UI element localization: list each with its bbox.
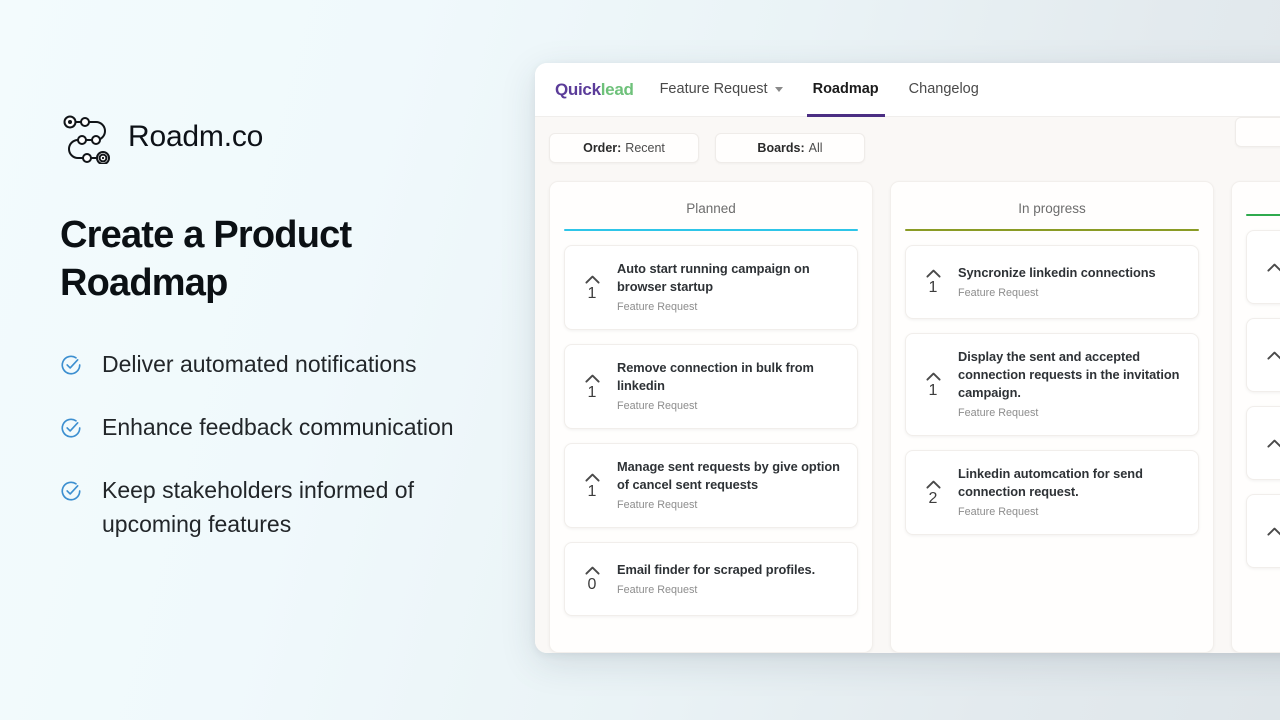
column-rule — [1246, 214, 1280, 216]
roadmap-path-icon — [60, 110, 114, 164]
boards-filter-button[interactable]: Boards:All — [715, 133, 865, 163]
roadmap-card[interactable] — [1246, 318, 1280, 392]
list-item: Keep stakeholders informed of upcoming f… — [60, 473, 500, 541]
roadmap-card[interactable] — [1246, 406, 1280, 480]
board-column-in-progress: In progress 1 Syncronize linkedin connec… — [890, 181, 1214, 653]
check-circle-icon — [60, 480, 82, 502]
roadmap-card[interactable]: 1 Remove connection in bulk from linkedi… — [564, 344, 858, 429]
card-title: Manage sent requests by give option of c… — [617, 458, 841, 494]
card-content: Syncronize linkedin connections Feature … — [958, 264, 1182, 300]
chevron-up-icon — [1267, 263, 1280, 272]
vote-control[interactable] — [1259, 525, 1280, 537]
card-title: Remove connection in bulk from linkedin — [617, 359, 841, 395]
app-topbar: Quicklead Feature Request Roadmap Change… — [535, 63, 1280, 117]
card-content: Remove connection in bulk from linkedin … — [617, 359, 841, 413]
tab-feature-request[interactable]: Feature Request — [654, 63, 789, 117]
vote-control[interactable]: 1 — [577, 372, 607, 401]
card-content: Email finder for scraped profiles. Featu… — [617, 561, 841, 597]
card-board-label: Feature Request — [617, 584, 841, 597]
quicklead-logo-part2: lead — [601, 80, 634, 99]
list-item-label: Enhance feedback communication — [102, 410, 454, 444]
vote-control[interactable]: 0 — [577, 564, 607, 593]
roadmap-card[interactable]: 1 Display the sent and accepted connecti… — [905, 333, 1199, 436]
chevron-up-icon — [1267, 439, 1280, 448]
card-content: Auto start running campaign on browser s… — [617, 260, 841, 314]
brand-name: Roadm.co — [128, 120, 263, 154]
list-item: Deliver automated notifications — [60, 347, 500, 381]
quicklead-logo[interactable]: Quicklead — [555, 80, 634, 100]
vote-count: 1 — [929, 382, 938, 399]
search-input[interactable] — [1235, 117, 1280, 147]
card-board-label: Feature Request — [617, 499, 841, 512]
tab-changelog[interactable]: Changelog — [903, 63, 985, 117]
chevron-down-icon — [775, 87, 783, 92]
app-body: Order:Recent Boards:All Planned 1 Auto s… — [535, 117, 1280, 653]
vote-count: 1 — [588, 285, 597, 302]
boards-filter-value: All — [809, 141, 823, 155]
tab-changelog-label: Changelog — [909, 80, 979, 98]
list-item-label: Keep stakeholders informed of upcoming f… — [102, 473, 500, 541]
vote-control[interactable] — [1259, 261, 1280, 273]
column-title — [1246, 182, 1280, 214]
vote-control[interactable]: 1 — [577, 471, 607, 500]
vote-control[interactable]: 1 — [918, 267, 948, 296]
chevron-up-icon — [585, 275, 600, 284]
roadmap-card[interactable]: 1 Syncronize linkedin connections Featur… — [905, 245, 1199, 319]
list-item-label: Deliver automated notifications — [102, 347, 417, 381]
chevron-up-icon — [585, 566, 600, 575]
chevron-up-icon — [926, 269, 941, 278]
order-filter-value: Recent — [625, 141, 665, 155]
chevron-up-icon — [926, 480, 941, 489]
roadmap-card[interactable] — [1246, 494, 1280, 568]
check-circle-icon — [60, 417, 82, 439]
vote-control[interactable]: 2 — [918, 478, 948, 507]
filter-toolbar: Order:Recent Boards:All — [535, 133, 1280, 163]
card-title: Email finder for scraped profiles. — [617, 561, 841, 579]
roadmap-board: Planned 1 Auto start running campaign on… — [535, 163, 1280, 653]
order-filter-button[interactable]: Order:Recent — [549, 133, 699, 163]
roadmap-card[interactable] — [1246, 230, 1280, 304]
brand: Roadm.co — [60, 105, 500, 169]
list-item: Enhance feedback communication — [60, 410, 500, 444]
card-content: Display the sent and accepted connection… — [958, 348, 1182, 420]
quicklead-logo-part1: Quick — [555, 80, 601, 99]
vote-count: 1 — [588, 483, 597, 500]
column-rule — [905, 229, 1199, 231]
card-content: Linkedin automcation for send connection… — [958, 465, 1182, 519]
roadmap-card[interactable]: 1 Auto start running campaign on browser… — [564, 245, 858, 330]
tab-roadmap[interactable]: Roadmap — [807, 63, 885, 117]
chevron-up-icon — [926, 372, 941, 381]
column-title: In progress — [905, 182, 1199, 229]
roadmap-card[interactable]: 1 Manage sent requests by give option of… — [564, 443, 858, 528]
card-board-label: Feature Request — [958, 506, 1182, 519]
chevron-up-icon — [585, 374, 600, 383]
vote-count: 0 — [588, 576, 597, 593]
card-content: Manage sent requests by give option of c… — [617, 458, 841, 512]
vote-count: 1 — [929, 279, 938, 296]
card-title: Display the sent and accepted connection… — [958, 348, 1182, 402]
board-column-planned: Planned 1 Auto start running campaign on… — [549, 181, 873, 653]
vote-count: 1 — [588, 384, 597, 401]
app-screenshot-window: Quicklead Feature Request Roadmap Change… — [535, 63, 1280, 653]
card-title: Linkedin automcation for send connection… — [958, 465, 1182, 501]
card-board-label: Feature Request — [617, 400, 841, 413]
check-circle-icon — [60, 354, 82, 376]
vote-control[interactable] — [1259, 437, 1280, 449]
chevron-up-icon — [1267, 527, 1280, 536]
tab-feature-request-label: Feature Request — [660, 80, 768, 98]
card-board-label: Feature Request — [617, 301, 841, 314]
page-title: Create a Product Roadmap — [60, 211, 420, 307]
card-title: Syncronize linkedin connections — [958, 264, 1182, 282]
tab-roadmap-label: Roadmap — [813, 80, 879, 98]
benefit-list: Deliver automated notifications Enhance … — [60, 347, 500, 541]
order-filter-label: Order: — [583, 141, 621, 155]
vote-control[interactable] — [1259, 349, 1280, 361]
roadmap-card[interactable]: 0 Email finder for scraped profiles. Fea… — [564, 542, 858, 616]
roadmap-card[interactable]: 2 Linkedin automcation for send connecti… — [905, 450, 1199, 535]
vote-control[interactable]: 1 — [918, 370, 948, 399]
card-board-label: Feature Request — [958, 407, 1182, 420]
chevron-up-icon — [585, 473, 600, 482]
card-title: Auto start running campaign on browser s… — [617, 260, 841, 296]
vote-control[interactable]: 1 — [577, 273, 607, 302]
column-title: Planned — [564, 182, 858, 229]
marketing-panel: Roadm.co Create a Product Roadmap Delive… — [60, 105, 500, 541]
chevron-up-icon — [1267, 351, 1280, 360]
vote-count: 2 — [929, 490, 938, 507]
boards-filter-label: Boards: — [757, 141, 804, 155]
column-rule — [564, 229, 858, 231]
card-board-label: Feature Request — [958, 287, 1182, 300]
board-column-third — [1231, 181, 1280, 653]
